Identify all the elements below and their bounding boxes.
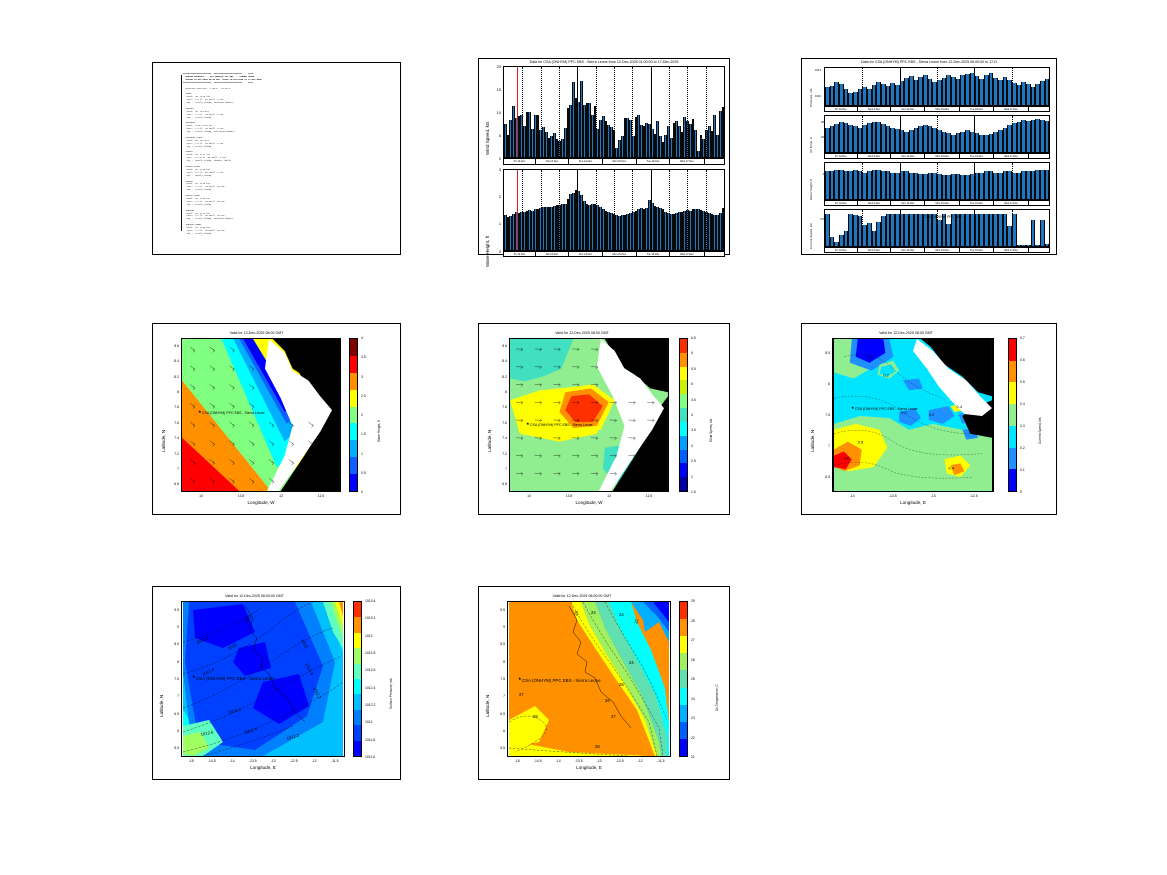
date-tick: Tue 16-Dec [637,252,670,256]
colorbar-tick: 3 [691,444,693,448]
date-tick: Tue 16-Dec [637,159,670,164]
colorbar-label-wind: Wind Speed, kts [709,419,713,442]
station-marker-icon: ★ [518,677,522,681]
report-line: Sky : Partly cloudy [183,233,396,236]
gridline [541,170,542,250]
gridline [522,170,523,250]
date-tick: Sat 13-Dec [858,248,892,252]
x-tick: -14.5 [531,759,545,763]
y-tick: 7.4 [492,436,507,440]
colorbar-band [680,394,687,408]
date-tick: Wed 17-Dec [670,159,704,164]
colorbar-tick: 0.5 [361,471,366,475]
y-tick: 1 [485,221,501,226]
x-tick: 13 [602,494,616,498]
colorbar-tick: 1.5 [691,490,696,494]
colorbar-tick: 26 [691,658,695,662]
svg-text:25: 25 [619,682,624,687]
panel-wind-speed-map: Valid for 12-Dec-2025 08:00 GMT Latitude… [478,323,730,515]
y-tick: 20 [485,64,501,69]
map-canvas-wave-height[interactable]: CSA (ONHYM) PPC EBS - Sierra Leone★ [181,338,341,492]
colorbar-band [350,457,357,474]
x-tick: -13 [926,494,940,498]
y-tick: 3 [485,167,501,172]
colorbar-band [350,440,357,457]
colorbar-tick: 1013 [365,634,373,638]
date-tick: Wed 17-Dec [994,107,1029,111]
y-tick: 8 [164,390,179,394]
x-tick: -15 [184,759,198,763]
bar [1040,220,1045,246]
colorbar-band [354,617,361,632]
x-tick: -11.5 [328,759,342,763]
colorbar-tick: 25 [691,677,695,681]
date-tick [1029,248,1049,252]
gridline [974,163,975,199]
gridline [559,170,560,250]
colorbar-band [1009,361,1016,383]
x-tick: -12.5 [967,494,981,498]
date-axis-wind: Fri 12-DecSat 13-DecSun 14-DecMon 15-Dec… [503,158,725,165]
y-tick: 9 [490,625,505,629]
y-axis-label-lat-wave: Latitude, N [161,430,166,452]
map-canvas-air-temperature[interactable]: 2824242224252627272828CSA (ONHYM) PPC EB… [507,601,671,757]
y-tick: 7.5 [815,413,830,417]
colorbar-tick: 5 [691,382,693,386]
station-marker-icon: ★ [851,406,855,410]
date-tick: Fri 12-Dec [825,248,858,252]
panel-forecast-text: ======================= ================… [152,62,401,255]
gridline [577,170,578,250]
y-tick: 26 [808,136,824,139]
colorbar-band [354,664,361,679]
y-tick: 8.6 [164,344,179,348]
map-title-pressure: Valid for 12-Dec-2025 08:00:00 GMT [173,594,336,598]
x-tick: 13.5 [234,494,248,498]
colorbar-band [350,423,357,440]
bar [1045,244,1050,246]
y-tick: 7 [490,694,505,698]
gridline [522,67,523,157]
station-label: CSA (ONHYM) PPC EBS - Sierra Leone [530,423,593,427]
colorbar-tick: 2 [691,475,693,479]
svg-text:24: 24 [629,660,634,665]
gridline [900,163,901,199]
colorbar-band [350,390,357,407]
svg-text:27: 27 [519,692,524,697]
panel-air-temperature-map: Valid for 12-Dec-2025 08:00:00 GMT Latit… [478,586,730,780]
x-axis-label-lon-current: Longitude, E [832,500,994,505]
y-tick: 7.8 [492,405,507,409]
colorbar-wind-speed [679,338,688,492]
y-tick: 8.2 [164,375,179,379]
y-tick: 5.5 [164,746,179,750]
date-tick [705,159,724,164]
y-tick: 8 [164,660,179,664]
gridline [577,67,578,157]
x-tick: -12 [307,759,321,763]
colorbar-tick: 0.6 [1020,358,1025,362]
gridline [651,170,652,250]
colorbar-band [680,619,687,636]
colorbar-band [354,710,361,725]
colorbar-tick: 3 [361,375,363,379]
colorbar-tick: 22 [691,736,695,740]
colorbar-band [354,602,361,617]
station-marker-icon: ★ [526,422,530,426]
svg-text:24: 24 [591,610,596,615]
gridline [900,210,901,246]
panel-met-ocean-timeseries: Data for CSA (ONHYM) PPC EBS - Sierra Le… [801,58,1057,255]
date-tick: Sat 13-Dec [536,159,569,164]
svg-text:24: 24 [619,612,624,617]
colorbar-band [680,463,687,477]
colorbar-band [680,408,687,422]
y-tick: 5 [485,133,501,138]
bar [1045,79,1050,105]
date-tick: Sun 14-Dec [891,201,925,205]
date-tick: Mon 15-Dec [603,252,637,256]
map-title-wave: Valid for 12-Dec-2025 08:00 GMT [173,331,340,335]
chart-title-met: Data for CSA (ONHYM) PPC EBS - Sierra Le… [802,60,1056,64]
y-tick: 8.4 [492,359,507,363]
colorbar-tick: 0.7 [1020,336,1025,340]
date-tick: Sun 14-Dec [891,154,925,158]
x-tick: -13.5 [246,759,260,763]
colorbar-band [354,741,361,756]
colorbar-band [354,694,361,709]
y-tick: 6.5 [164,712,179,716]
y-tick: 6.5 [815,475,830,479]
date-tick: Tue 16-Dec [960,201,994,205]
gridline [1012,116,1013,152]
svg-text:28: 28 [595,744,600,749]
date-tick: Fri 12-Dec [504,252,536,256]
date-axis-air-temp: Fri 12-DecSat 13-DecSun 14-DecMon 15-Dec… [824,153,1050,159]
x-tick: -13 [592,759,606,763]
date-tick: Wed 17-Dec [994,154,1029,158]
y-tick: 2 [485,194,501,199]
colorbar-tick: 23 [691,716,695,720]
y-tick: 6.8 [492,482,507,486]
now-marker [517,170,518,250]
gridline [559,67,560,157]
colorbar-tick: 24 [691,697,695,701]
date-tick [1029,154,1049,158]
y-tick: 7.8 [164,405,179,409]
date-tick: Tue 16-Dec [960,107,994,111]
date-axis-wave: Fri 12-DecSat 13-DecSun 14-DecMon 15-Dec… [503,251,725,257]
chart-title-wind: Data for CSA (ONHYM) PPC EBS - Sierra Le… [479,60,729,64]
y-tick: 5.5 [490,746,505,750]
x-axis-label-lon-wind: Longitude, W [509,500,669,505]
colorbar-band [680,739,687,756]
x-tick: -14 [845,494,859,498]
panel-wave-height-map: Valid for 12-Dec-2025 08:00 GMT Latitude… [152,323,401,515]
gridline [974,210,975,246]
axes-pressure [824,67,1050,106]
date-tick: Mon 15-Dec [925,248,960,252]
bar [722,107,725,157]
colorbar-band [680,688,687,705]
colorbar-band [680,636,687,653]
colorbar-tick: 1.5 [361,432,366,436]
date-tick: Sun 14-Dec [891,248,925,252]
colorbar-current-speed [1008,338,1017,492]
colorbar-tick: 1012.8 [365,651,375,655]
colorbar-band [680,477,687,491]
svg-text:0.5: 0.5 [858,440,864,445]
gridline [596,67,597,157]
y-axis-label-air-temp: Air Temp, C [809,137,813,153]
x-axis-label-lon-wave: Longitude, W [181,500,341,505]
x-tick: -14.5 [205,759,219,763]
x-tick: -12.5 [613,759,627,763]
station-marker-icon: ★ [192,675,196,679]
colorbar-tick: 1012.4 [365,686,375,690]
y-axis-label-lat-wind: Latitude, N [487,430,492,452]
colorbar-tick: 3.5 [361,355,366,359]
axes-wave-height [503,169,725,251]
gridline [862,210,863,246]
svg-text:27: 27 [611,714,616,719]
gridline [862,116,863,152]
colorbar-tick: 21 [691,755,695,759]
date-tick: Sun 14-Dec [569,159,603,164]
colorbar-tick: 1013.4 [365,599,375,603]
y-tick: 8 [490,660,505,664]
y-tick: 7.2 [492,452,507,456]
date-tick [705,252,724,256]
y-tick: 0.5 [808,218,824,221]
colorbar-tick: 27 [691,638,695,642]
colorbar-tick: 0.5 [1020,380,1025,384]
y-tick: 7.5 [490,677,505,681]
colorbar-tick: 2.5 [361,394,366,398]
colorbar-band [680,380,687,394]
colorbar-band [680,705,687,722]
colorbar-band [1009,382,1016,404]
colorbar-tick: 1011.8 [365,738,375,742]
panel-wind-wave-timeseries: Data for CSA (ONHYM) PPC EBS - Sierra Le… [478,58,730,255]
date-tick: Sat 13-Dec [858,154,892,158]
y-tick: 28 [808,121,824,124]
svg-text:0.4: 0.4 [956,404,962,409]
gridline [614,67,615,157]
colorbar-band [350,339,357,356]
gridline [541,67,542,157]
gridline [687,170,688,250]
date-tick: Sat 13-Dec [858,201,892,205]
gridline [632,67,633,157]
colorbar-band [354,679,361,694]
date-tick: Mon 15-Dec [925,201,960,205]
svg-text:0.6: 0.6 [844,455,850,460]
colorbar-air-temperature [679,601,688,757]
x-tick: -13.5 [572,759,586,763]
colorbar-tick: 6 [691,351,693,355]
map-title-wind: Valid for 12-Dec-2025 08:00 GMT [499,331,665,335]
colorbar-label-current: Current Speed, kts [1038,417,1042,444]
colorbar-tick: 6.5 [691,336,696,340]
date-tick: Mon 15-Dec [925,107,960,111]
panel-surface-pressure-map: Valid for 12-Dec-2025 08:00:00 GMT Latit… [152,586,401,780]
gridline [651,67,652,157]
y-tick: 10 [485,110,501,115]
annotation-station-current: CSA (ONHYM) PPC EBS [924,215,962,219]
colorbar-band [350,373,357,390]
colorbar-band [680,353,687,367]
x-tick: -13.5 [886,494,900,498]
x-tick: 14 [194,494,208,498]
date-tick [1029,107,1049,111]
gridline [1012,210,1013,246]
colorbar-band [680,450,687,464]
report-margin-rule [181,75,182,231]
gridline [937,68,938,105]
gridline [706,170,707,250]
gridline [614,170,615,250]
gridline [937,163,938,199]
y-tick: 9.5 [490,608,505,612]
svg-text:26: 26 [605,698,610,703]
date-tick: Sat 13-Dec [536,252,569,256]
bar [1045,121,1050,152]
map-title-airtemp: Valid for 12-Dec-2025 08:00:00 GMT [499,594,665,598]
map-canvas-current-speed[interactable]: 0.10.20.20.20.50.60.40.4CSA (ONHYM) PPC … [832,338,994,492]
date-axis-wave-2: Fri 12-DecSat 13-DecSun 14-DecMon 15-Dec… [824,200,1050,206]
y-tick: 1013 [805,69,821,72]
y-tick: 0 [485,249,501,254]
svg-text:0.4: 0.4 [949,465,955,470]
date-tick: Fri 12-Dec [825,154,858,158]
report-page: ======================= ================… [0,0,1167,875]
y-axis-label-wind-speed: Wind Speed, kts [485,122,490,155]
map-canvas-wind-speed[interactable]: CSA (ONHYM) PPC EBS - Sierra Leone★ [509,338,669,492]
colorbar-tick: 4 [691,413,693,417]
colorbar-tick: 0.1 [1020,468,1025,472]
x-axis-label-lon-airtemp: Longitude, E [507,765,671,770]
gridline [687,67,688,157]
colorbar-tick: 1 [361,452,363,456]
colorbar-label-pressure: Surface Pressure, mb [389,678,393,709]
y-tick: 8 [492,390,507,394]
colorbar-tick: 0 [1020,490,1022,494]
colorbar-label-wave: Wave Height, ft [377,420,381,442]
x-tick: 12.5 [314,494,328,498]
gridline [1012,68,1013,105]
colorbar-band [1009,448,1016,470]
svg-text:0.2: 0.2 [883,373,888,378]
y-tick: 8.4 [164,359,179,363]
colorbar-band [680,367,687,381]
colorbar-band [680,670,687,687]
gridline [596,170,597,250]
y-tick: 9 [164,625,179,629]
colorbar-band [1009,426,1016,448]
gridline [669,170,670,250]
y-axis-label-lat-current: Latitude, N [810,430,815,452]
colorbar-band [354,725,361,740]
colorbar-tick: 3.5 [691,428,696,432]
y-tick: 8.2 [492,375,507,379]
date-tick: Mon 15-Dec [603,159,637,164]
y-tick: 7 [164,467,179,471]
colorbar-surface-pressure [353,601,362,757]
colorbar-tick: 4.5 [691,398,696,402]
colorbar-band [354,633,361,648]
colorbar-band [350,356,357,373]
colorbar-band [680,436,687,450]
axes-wave-height-2 [824,162,1050,200]
y-tick: 15 [485,87,501,92]
y-tick: 8.6 [492,344,507,348]
gridline [862,163,863,199]
colorbar-tick: 1013.2 [365,616,375,620]
y-axis-label-wave2: Wave Height, ft [809,179,813,200]
date-tick: Wed 17-Dec [994,248,1029,252]
gridline [974,68,975,105]
y-axis-label-current: Current Speed, kts [809,223,813,249]
date-tick: Tue 16-Dec [960,248,994,252]
date-tick: Wed 17-Dec [994,201,1029,205]
colorbar-wave-height [349,338,358,492]
date-axis-pressure: Fri 12-DecSat 13-DecSun 14-DecMon 15-Dec… [824,106,1050,112]
axes-current-speed: CSA (ONHYM) PPC EBS [824,209,1050,247]
colorbar-tick: 0.3 [1020,424,1025,428]
y-tick: 9.5 [164,608,179,612]
forecast-report-text: ======================= ================… [183,73,396,250]
date-tick: Fri 12-Dec [825,107,858,111]
gridline [706,67,707,157]
station-label: CSA (ONHYM) PPC EBS - Sierra Leone [196,676,275,681]
y-tick: 8.5 [490,642,505,646]
y-tick: 8.5 [815,351,830,355]
x-tick: -13 [266,759,280,763]
gridline [1012,163,1013,199]
colorbar-tick: 1012.2 [365,703,375,707]
x-tick: -14 [551,759,565,763]
x-tick: -12.5 [287,759,301,763]
gridline [669,67,670,157]
y-tick: 7.6 [492,421,507,425]
y-tick: 6 [490,729,505,733]
bar [1031,220,1036,246]
gridline [937,116,938,152]
y-tick: 0 [485,156,501,161]
y-tick: 7.2 [164,452,179,456]
gridline [862,68,863,105]
station-marker-icon: ★ [198,410,202,414]
map-canvas-surface-pressure[interactable]: 1012.21012.41012.21012.61012.41012.21012… [181,601,345,757]
x-tick: -14 [225,759,239,763]
x-tick: 14 [522,494,536,498]
colorbar-band [680,602,687,619]
bar [722,208,725,250]
colorbar-band [680,339,687,353]
x-tick: 12.5 [642,494,656,498]
x-tick: -12 [633,759,647,763]
date-tick: Sat 13-Dec [858,107,892,111]
x-tick: -15 [510,759,524,763]
date-axis-current: Fri 12-DecSat 13-DecSun 14-DecMon 15-Dec… [824,247,1050,253]
y-tick: 6 [164,729,179,733]
colorbar-tick: 1011.6 [365,755,375,759]
colorbar-tick: 1012.6 [365,668,375,672]
station-label: CSA (ONHYM) PPC EBS - Sierra Leone [202,411,265,415]
colorbar-band [680,722,687,739]
colorbar-band [1009,339,1016,361]
